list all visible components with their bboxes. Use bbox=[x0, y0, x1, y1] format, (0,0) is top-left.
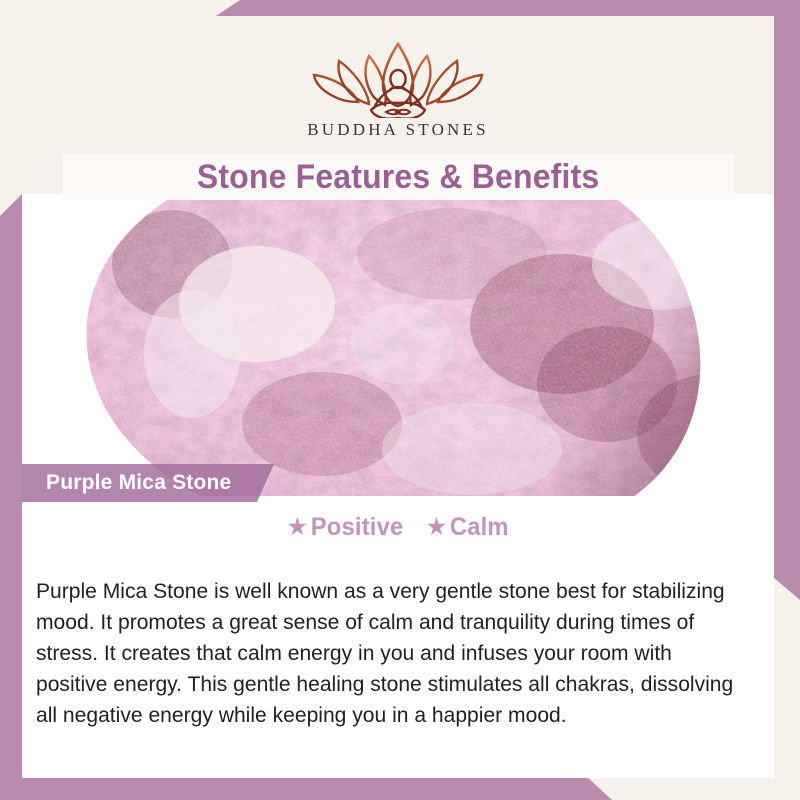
status-badge: Purple Mica Stone bbox=[22, 464, 274, 502]
star-icon: ★ bbox=[288, 514, 307, 540]
keyword-positive-label: Positive bbox=[311, 513, 404, 541]
brand-name: BUDDHA STONES bbox=[22, 120, 774, 140]
keyword-list: ★Positive★Calm bbox=[22, 513, 774, 542]
frame-band-left bbox=[0, 0, 22, 800]
title-band: Stone Features & Benefits bbox=[62, 154, 734, 200]
keyword-positive: ★Positive bbox=[288, 513, 403, 542]
poster-root: BUDDHA STONES Stone Features & Benefits bbox=[0, 0, 800, 800]
stone-name-label: Purple Mica Stone bbox=[46, 471, 231, 495]
star-icon: ★ bbox=[427, 514, 446, 540]
page-title: Stone Features & Benefits bbox=[197, 158, 600, 197]
frame-band-right bbox=[774, 0, 800, 800]
description-paragraph: Purple Mica Stone is well known as a ver… bbox=[36, 576, 744, 731]
content-card: BUDDHA STONES Stone Features & Benefits bbox=[22, 16, 774, 778]
lotus-meditation-icon bbox=[22, 30, 774, 118]
purple-mica-stone-photo bbox=[22, 194, 774, 496]
keyword-calm: ★Calm bbox=[427, 513, 509, 542]
frame-band-bottom bbox=[0, 778, 800, 800]
keyword-calm-label: Calm bbox=[450, 513, 509, 541]
frame-band-top bbox=[0, 0, 800, 16]
